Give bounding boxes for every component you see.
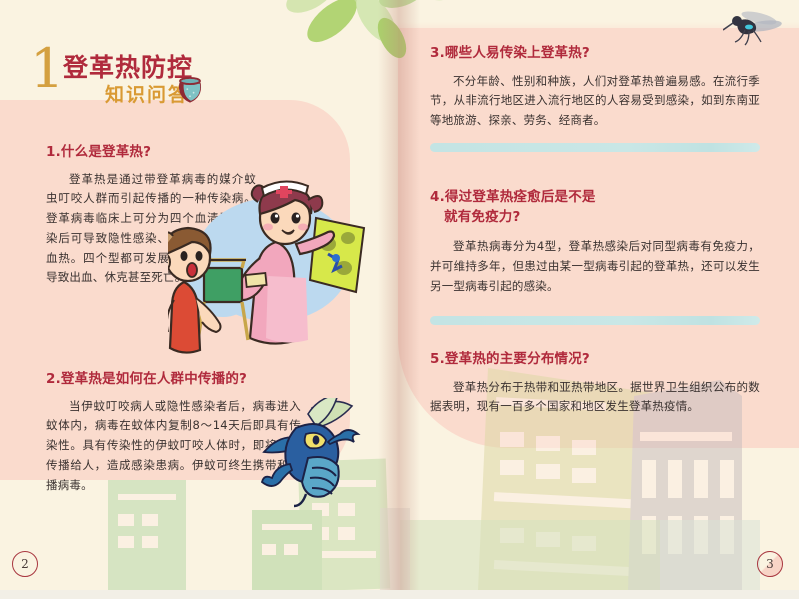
title-number: 1 [30,42,64,96]
section-4-heading: 4.得过登革热痊愈后是不是 [430,188,760,208]
section-4-body: 登革热病毒分为4型，登革热感染后对同型病毒有免疫力，并可维持多年，但患过由某一型… [430,237,760,296]
section-1-heading: 1.什么是登革热? [46,143,296,163]
cartoon-mosquito-illustration [258,398,363,508]
mosquito-icon [723,8,785,48]
section-2-heading: 2.登革热是如何在人群中传播的? [46,370,336,390]
section-4-divider [430,316,760,325]
page-number-right: 3 [757,551,783,577]
water-jar-icon [172,72,208,108]
brochure-spread: 1 登革热防控 知识问答 1.什么是登革热? 登革热是通过带登革病毒的媒介蚊虫叮… [0,0,799,599]
section-3-body: 不分年龄、性别和种族，人们对登革热普遍易感。在流行季节，从非流行地区进入流行地区… [430,72,760,131]
section-3-divider [430,143,760,152]
section-4: 4.得过登革热痊愈后是不是 就有免疫力? 登革热病毒分为4型，登革热感染后对同型… [430,188,760,325]
nurse-teaching-child-illustration [168,180,368,360]
section-4-heading-line2: 就有免疫力? [430,208,760,228]
section-5: 5.登革热的主要分布情况? 登革热分布于热带和亚热带地区。据世界卫生组织公布的数… [430,350,760,417]
section-5-body: 登革热分布于热带和亚热带地区。据世界卫生组织公布的数据表明，现有一百多个国家和地… [430,378,760,418]
section-5-heading: 5.登革热的主要分布情况? [430,350,760,370]
leaf-decoration-group [280,0,450,73]
bottom-edge-strip [0,590,799,599]
section-3-heading: 3.哪些人易传染上登革热? [430,44,760,64]
section-3: 3.哪些人易传染上登革热? 不分年龄、性别和种族，人们对登革热普遍易感。在流行季… [430,44,760,152]
page-number-left: 2 [12,551,38,577]
